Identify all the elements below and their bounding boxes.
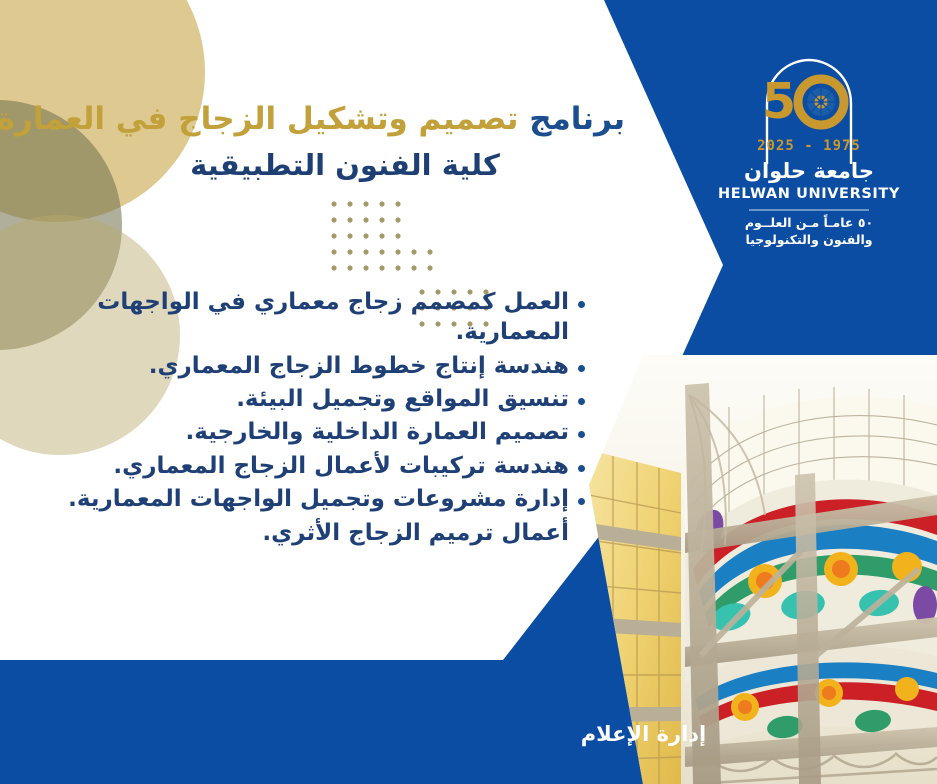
logo-tagline-line1: ٥٠ عامـاً مـن العلــوم [745,213,873,231]
list-item: إدارة مشروعات وتجميل الواجهات المعمارية. [25,484,585,514]
list-item-label: إدارة مشروعات وتجميل الواجهات المعمارية. [25,484,569,514]
stained-glass-ceiling-illustration [589,355,937,784]
footer-label: إدارة الإعلام [581,722,707,746]
poster-canvas: 5 1975 - 2025 جامعة حلوا [0,0,937,784]
logo-years: 1975 - 2025 [757,138,861,154]
list-item: هندسة تركيبات لأعمال الزجاج المعماري. [25,451,585,481]
poster-headline: برنامج تصميم وتشكيل الزجاج في العمارة كل… [65,98,625,185]
headline-line-2: كلية الفنون التطبيقية [65,145,625,185]
list-item: تصميم العمارة الداخلية والخارجية. [25,417,585,447]
bullet-marker-icon [578,465,585,472]
program-outcomes-list: العمل كمصمم زجاج معماري في الواجهات المع… [25,287,585,551]
list-item: هندسة إنتاج خطوط الزجاج المعماري. [25,351,585,381]
logo-name-english: HELWAN UNIVERSITY [718,186,900,202]
list-item-label: أعمال ترميم الزجاج الأثري. [25,518,569,548]
dot-grid-icon [328,198,440,290]
svg-text:5: 5 [762,73,796,130]
helwan-university-logo: 5 1975 - 2025 جامعة حلوا [709,52,909,252]
headline-line-1: برنامج تصميم وتشكيل الزجاج في العمارة [65,98,625,141]
list-item: أعمال ترميم الزجاج الأثري. [25,518,585,548]
anniversary-50-icon: 5 [762,73,844,130]
dot-grid-graphic [328,198,440,286]
bullet-marker-icon [578,431,585,438]
rosette-icon [807,88,835,116]
logo-graphic: 5 1975 - 2025 جامعة حلوا [709,52,909,252]
headline-line-1-rest: تصميم وتشكيل الزجاج في العمارة [0,101,518,137]
headline-program-word: برنامج [529,101,625,137]
list-item: العمل كمصمم زجاج معماري في الواجهات المع… [25,287,585,348]
bullet-marker-icon [578,398,585,405]
list-item-label: هندسة تركيبات لأعمال الزجاج المعماري. [25,451,569,481]
logo-name-arabic: جامعة حلوان [744,159,874,183]
bullet-marker-icon [578,498,585,505]
list-item-label: تنسيق المواقع وتجميل البيئة. [25,384,569,414]
logo-tagline-line2: والفنون والتكنولوجيا [745,232,872,247]
footer: إدارة الإعلام [0,722,937,746]
list-item-label: تصميم العمارة الداخلية والخارجية. [25,417,569,447]
list-item: تنسيق المواقع وتجميل البيئة. [25,384,585,414]
list-item-label: العمل كمصمم زجاج معماري في الواجهات المع… [25,287,569,348]
list-item-label: هندسة إنتاج خطوط الزجاج المعماري. [25,351,569,381]
bullet-marker-icon [578,301,585,308]
stained-glass-photo [589,355,937,784]
bullet-marker-icon [578,365,585,372]
